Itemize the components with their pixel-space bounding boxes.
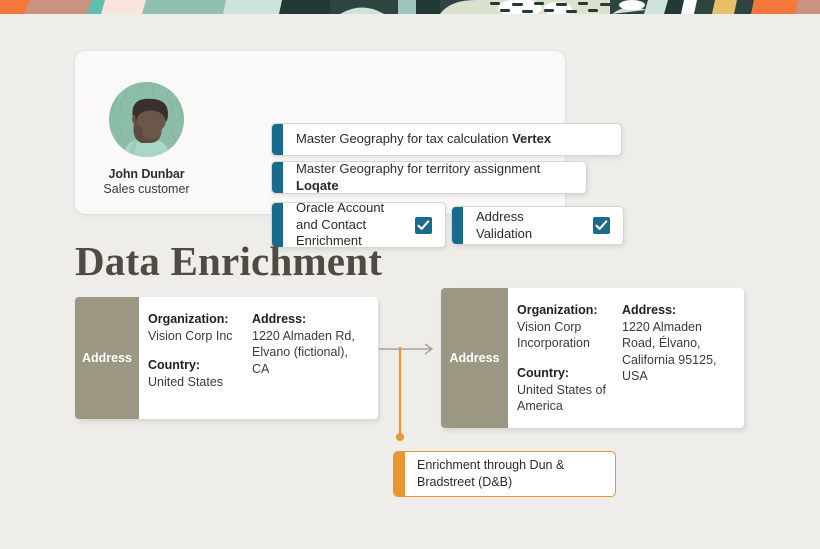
country-value: United States (148, 374, 244, 391)
branch-endpoint-dot (396, 433, 404, 441)
callout-text: Enrichment through Dun & Bradstreet (D&B… (405, 452, 615, 496)
callout-accent-bar (394, 452, 405, 496)
checkbox-checked-icon[interactable] (415, 217, 432, 234)
address-card-body: Organization: Vision Corp Inc Country: U… (139, 297, 378, 419)
chip-address-validation[interactable]: Address Validation (451, 206, 624, 245)
page-title: Data Enrichment (75, 237, 382, 285)
organization-value: Vision Corp Inc (148, 328, 244, 345)
transform-arrow-head (425, 344, 432, 354)
persona-name: John Dunbar (94, 167, 199, 181)
country-label: Country: (517, 365, 614, 382)
chip-master-geography-vertex[interactable]: Master Geography for tax calculation Ver… (271, 123, 622, 156)
chip-text-bold: Vertex (512, 131, 551, 146)
chip-accent-bar (272, 162, 283, 193)
chip-accent-bar (272, 124, 283, 155)
country-label: Country: (148, 357, 244, 374)
chip-label: Address Validation (463, 207, 623, 244)
chip-label: Master Geography for territory assignmen… (283, 162, 586, 193)
address-card-tab-label: Address (441, 288, 508, 428)
decorative-banner-strip (0, 0, 820, 14)
address-value: 1220 Almaden Rd, Elvano (fictional), CA (252, 328, 364, 378)
organization-label: Organization: (148, 311, 244, 328)
checkbox-checked-icon[interactable] (593, 217, 610, 234)
address-label: Address: (622, 302, 734, 319)
address-card-column-organization: Organization: Vision Corp Inc Country: U… (148, 311, 252, 419)
chip-accent-bar (452, 207, 463, 244)
address-card-before: Address Organization: Vision Corp Inc Co… (75, 297, 378, 419)
persona-role: Sales customer (94, 182, 199, 196)
address-value: 1220 Almaden Road, Élvano, California 95… (622, 319, 734, 385)
country-value: United States of America (517, 382, 614, 415)
chip-text: Master Geography for tax calculation (296, 131, 512, 146)
organization-label: Organization: (517, 302, 614, 319)
address-card-body: Organization: Vision Corp Incorporation … (508, 288, 744, 428)
address-card-after: Address Organization: Vision Corp Incorp… (441, 288, 744, 428)
chip-text: Master Geography for territory assignmen… (296, 161, 540, 176)
address-card-column-organization: Organization: Vision Corp Incorporation … (517, 302, 622, 428)
address-card-column-address: Address: 1220 Almaden Rd, Elvano (fictio… (252, 311, 372, 419)
chip-label: Master Geography for tax calculation Ver… (283, 124, 621, 155)
chip-text-bold: Loqate (296, 178, 339, 193)
callout-enrichment-source: Enrichment through Dun & Bradstreet (D&B… (393, 451, 616, 497)
chip-text: Address Validation (476, 209, 582, 242)
chip-master-geography-loqate[interactable]: Master Geography for territory assignmen… (271, 161, 587, 194)
address-label: Address: (252, 311, 364, 328)
organization-value: Vision Corp Incorporation (517, 319, 614, 352)
data-sources-panel: John Dunbar Sales customer Master Geogra… (75, 51, 565, 214)
address-card-tab-label: Address (75, 297, 139, 419)
address-card-column-address: Address: 1220 Almaden Road, Élvano, Cali… (622, 302, 742, 428)
avatar (109, 82, 184, 157)
persona-block: John Dunbar Sales customer (94, 82, 199, 196)
